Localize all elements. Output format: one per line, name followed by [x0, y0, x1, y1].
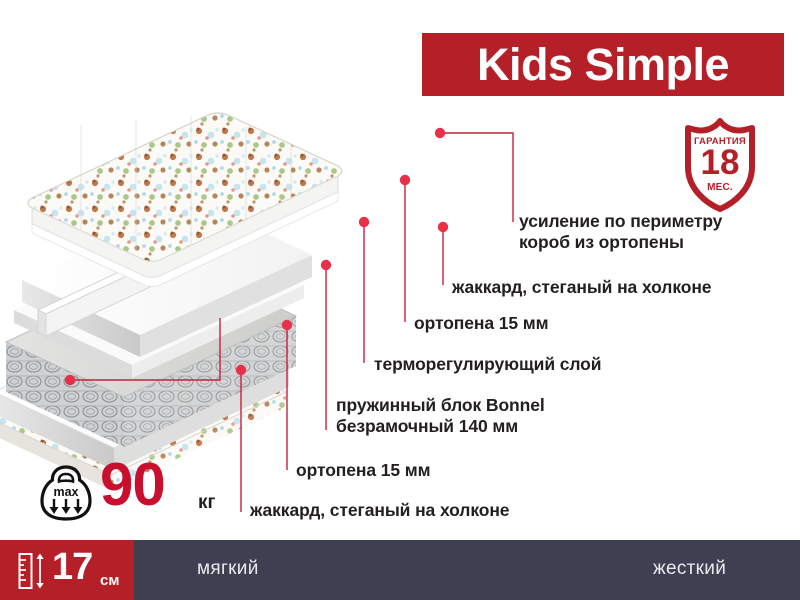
product-infographic: Kids Simple ГАРАНТИЯ 18 МЕС. [0, 0, 800, 600]
height-chip: 17 см [0, 540, 134, 600]
guarantee-unit-label: МЕС. [672, 182, 768, 193]
firmness-soft-label: мягкий [197, 558, 259, 580]
mattress-cutaway-illustration [0, 74, 456, 504]
callout-label-bonnel-block: пружинный блок Bonnel безрамочный 140 мм [336, 395, 545, 436]
callout-label-thermo-layer: терморегулирующий слой [374, 354, 601, 375]
max-weight-block: max 90 кг [38, 463, 228, 525]
max-weight-value: 90 [100, 455, 165, 515]
callout-label-ortopena-bottom: ортопена 15 мм [296, 460, 430, 481]
firmness-hard-label: жесткий [653, 558, 726, 580]
kettlebell-max-weight-icon: max [38, 463, 94, 523]
height-unit: см [100, 572, 119, 589]
callout-label-perimeter-reinforcement: усиление по периметру короб из ортопены [519, 211, 722, 252]
max-weight-unit: кг [198, 492, 215, 514]
guarantee-value: 18 [672, 145, 768, 180]
mattress-layers-svg [0, 74, 456, 504]
guarantee-badge: ГАРАНТИЯ 18 МЕС. [672, 117, 768, 213]
ruler-icon [18, 552, 48, 590]
callout-label-jacquard-top: жаккард, стеганый на холконе [452, 277, 711, 298]
callout-label-ortopena-top: ортопена 15 мм [414, 313, 548, 334]
kettlebell-max-text: max [53, 485, 78, 499]
page-title: Kids Simple [477, 42, 729, 87]
height-value: 17 [52, 548, 92, 586]
callout-label-jacquard-bottom: жаккард, стеганый на холконе [250, 500, 509, 521]
product-title-banner: Kids Simple [422, 33, 784, 96]
